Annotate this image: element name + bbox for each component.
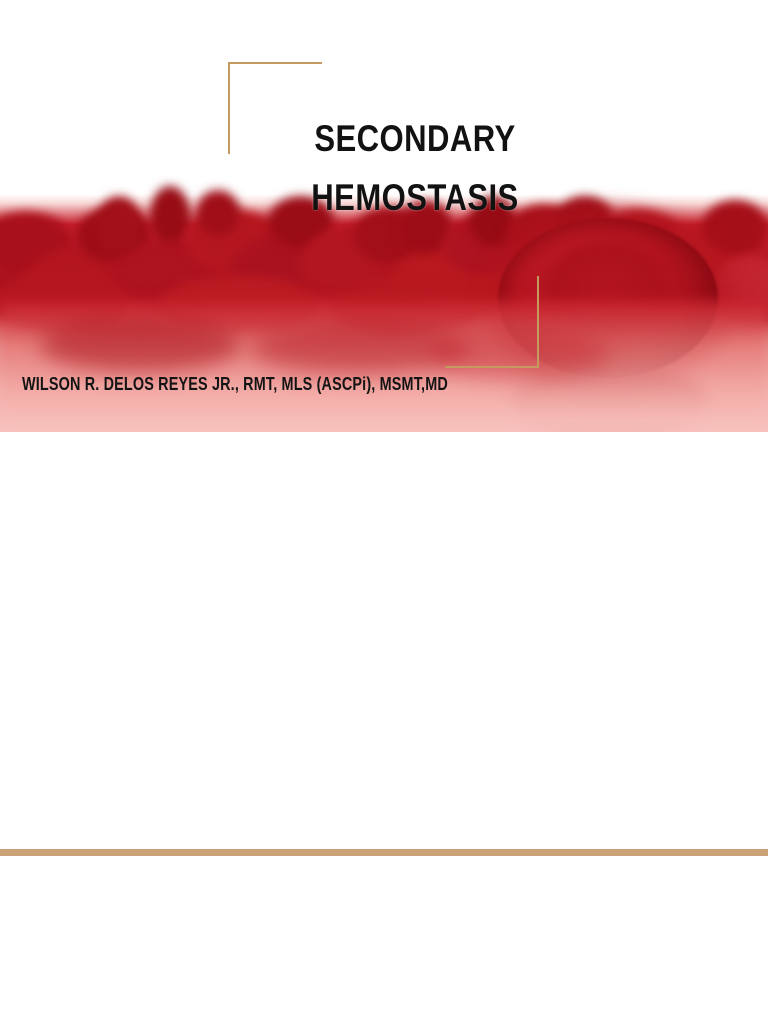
slide-title: SECONDARY HEMOSTASIS WILSON R. DELOS REY… — [0, 0, 768, 432]
slide-deck: SECONDARY HEMOSTASIS WILSON R. DELOS REY… — [0, 0, 768, 1024]
slide-secondary-hemostasis-overview: SECONDARY HEMOSTASIS ➢ Composed of coagu… — [0, 432, 768, 849]
title-line-1: SECONDARY — [314, 118, 515, 159]
slide-divider — [0, 849, 768, 856]
slide-coagulation-factors: SECONDARY HEMOSTASIS ● COAGULATION FACTO… — [0, 856, 768, 1031]
page-title: SECONDARY HEMOSTASIS — [234, 109, 595, 227]
title-line-2: HEMOSTASIS — [311, 177, 518, 218]
author-byline: WILSON R. DELOS REYES JR., RMT, MLS (ASC… — [22, 374, 448, 395]
